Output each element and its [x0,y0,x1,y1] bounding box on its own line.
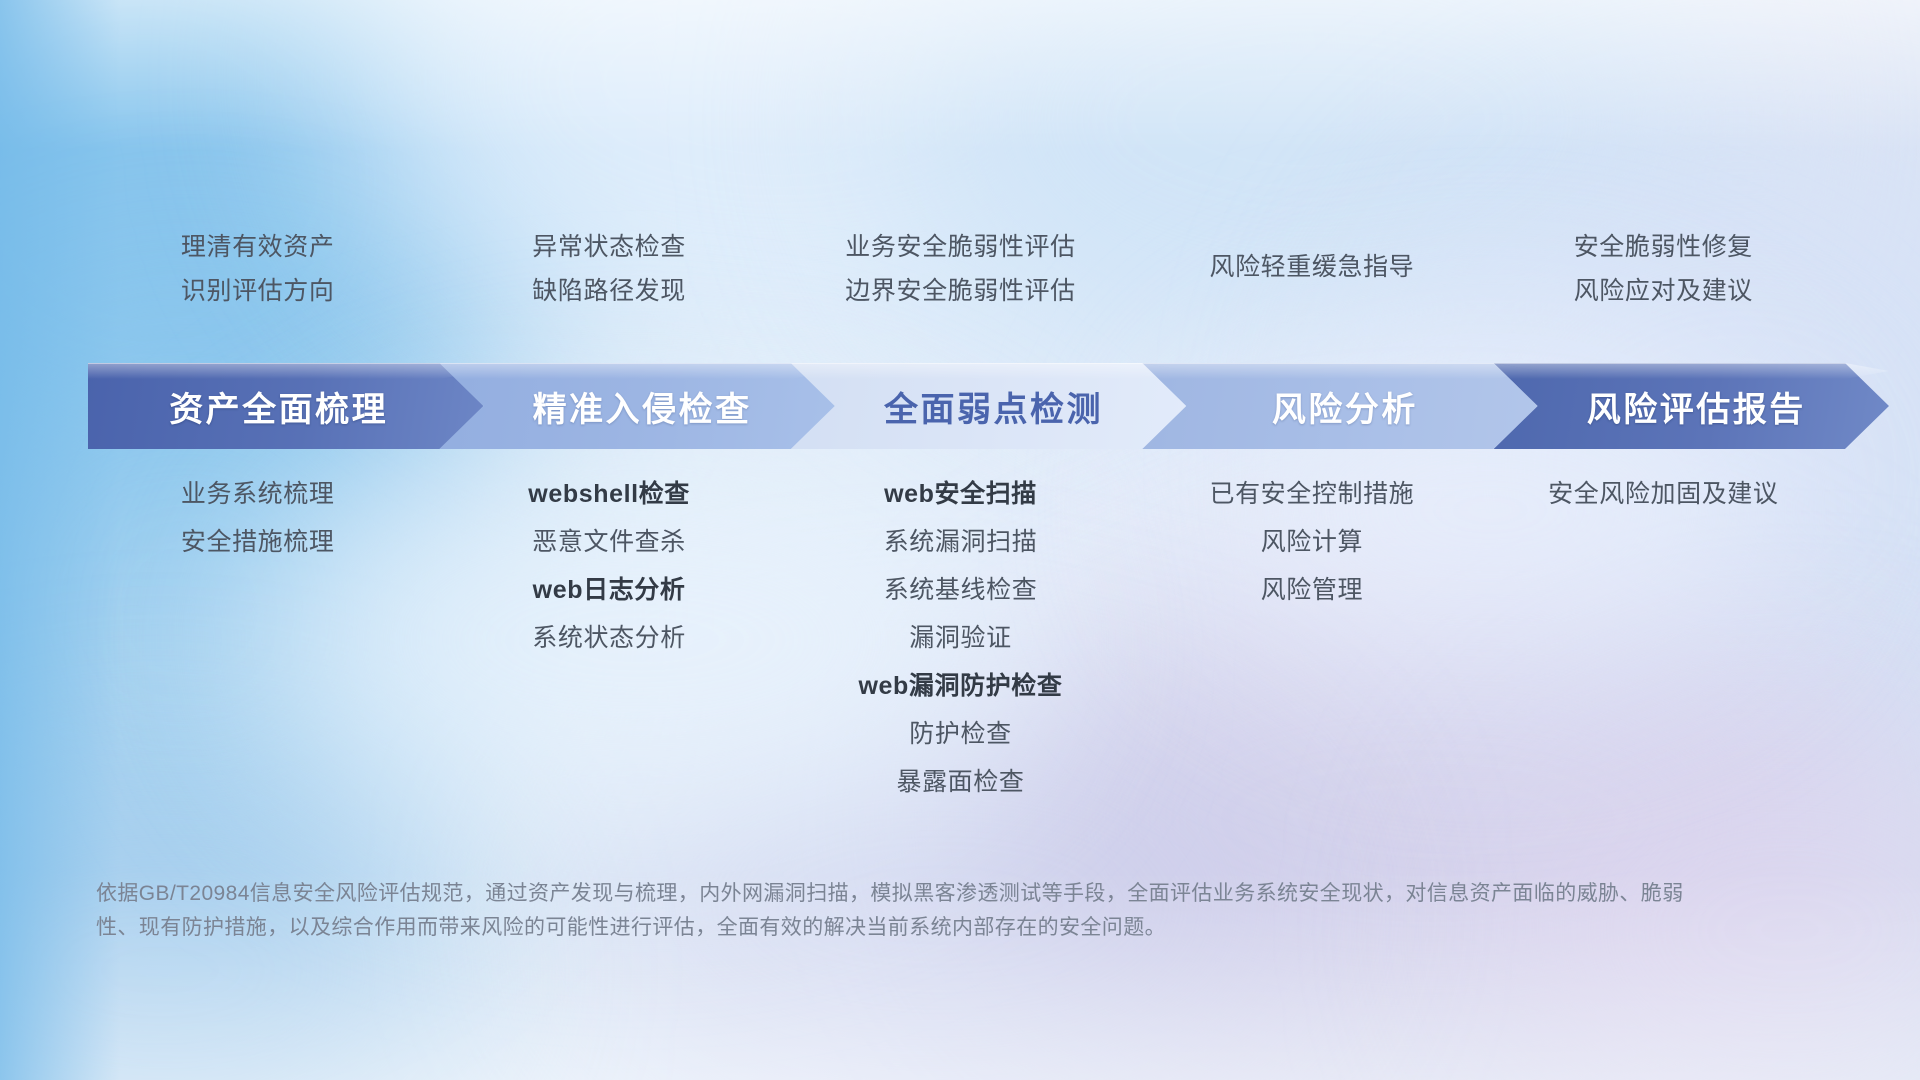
process-step-label: 全面弱点检测 [884,382,1103,431]
top-captions-risk-report: 安全脆弱性修复风险应对及建议 [1463,232,1863,308]
detail-list-item: 恶意文件查杀 [532,518,686,566]
detail-list-item: 安全风险加固及建议 [1548,470,1778,518]
top-caption-line: 理清有效资产 [181,232,335,263]
top-caption-line: 识别评估方向 [181,276,335,307]
detail-list-item: web漏洞防护检查 [858,662,1062,710]
process-step-intrusion-check[interactable]: 精准入侵检查 [439,363,834,449]
top-caption-line: 缺陷路径发现 [532,276,686,307]
top-captions-weakness-detection: 业务安全脆弱性评估边界安全脆弱性评估 [761,232,1161,308]
top-caption-line: 边界安全脆弱性评估 [845,276,1075,307]
slide-canvas: 理清有效资产识别评估方向异常状态检查缺陷路径发现业务安全脆弱性评估边界安全脆弱性… [0,0,1920,1080]
top-caption-line: 风险应对及建议 [1574,276,1753,307]
detail-list-item: 已有安全控制措施 [1209,470,1414,518]
detail-list-item: 风险管理 [1261,566,1363,614]
detail-list-item: 安全措施梳理 [181,518,335,566]
process-step-risk-analysis[interactable]: 风险分析 [1142,363,1537,449]
top-captions-asset-inventory: 理清有效资产识别评估方向 [58,232,458,308]
process-step-label: 精准入侵检查 [533,382,752,431]
top-captions-risk-analysis: 风险轻重缓急指导 [1112,252,1512,283]
detail-list-weakness-detection: web安全扫描系统漏洞扫描系统基线检查漏洞验证web漏洞防护检查防护检查暴露面检… [761,470,1161,806]
process-step-label: 风险分析 [1272,382,1418,431]
process-step-label: 资产全面梳理 [169,382,388,431]
top-caption-line: 异常状态检查 [532,232,686,263]
detail-list-item: 业务系统梳理 [181,470,335,518]
detail-list-item: 系统漏洞扫描 [884,518,1038,566]
detail-list-asset-inventory: 业务系统梳理安全措施梳理 [58,470,458,566]
process-step-risk-report[interactable]: 风险评估报告 [1494,363,1889,449]
detail-list-risk-analysis: 已有安全控制措施风险计算风险管理 [1112,470,1512,614]
footer-description: 依据GB/T20984信息安全风险评估规范，通过资产发现与梳理，内外网漏洞扫描，… [96,877,1726,945]
detail-list-item: web日志分析 [533,566,686,614]
detail-list-risk-report: 安全风险加固及建议 [1463,470,1863,518]
detail-list-item: 风险计算 [1261,518,1363,566]
process-step-gloss [791,363,1186,379]
process-step-label: 风险评估报告 [1587,382,1806,431]
process-step-weakness-detection[interactable]: 全面弱点检测 [791,363,1186,449]
process-step-gloss [1142,363,1537,379]
process-step-asset-inventory[interactable]: 资产全面梳理 [88,363,483,449]
detail-list-item: 暴露面检查 [896,758,1024,806]
detail-list-item: 系统基线检查 [884,566,1038,614]
process-step-gloss [1494,363,1889,379]
detail-list-item: web安全扫描 [884,470,1037,518]
detail-list-item: 系统状态分析 [532,614,686,662]
process-step-gloss [439,363,834,379]
top-caption-line: 安全脆弱性修复 [1574,232,1753,263]
process-step-gloss [88,363,483,379]
detail-list-item: 漏洞验证 [909,614,1011,662]
detail-list-intrusion-check: webshell检查恶意文件查杀web日志分析系统状态分析 [409,470,809,662]
top-caption-line: 风险轻重缓急指导 [1209,252,1414,283]
detail-list-item: webshell检查 [528,470,690,518]
process-arrow-banner: 资产全面梳理精准入侵检查全面弱点检测风险分析风险评估报告 [0,363,1920,449]
detail-list-item: 防护检查 [909,710,1011,758]
top-caption-line: 业务安全脆弱性评估 [845,232,1075,263]
top-captions-intrusion-check: 异常状态检查缺陷路径发现 [409,232,809,308]
